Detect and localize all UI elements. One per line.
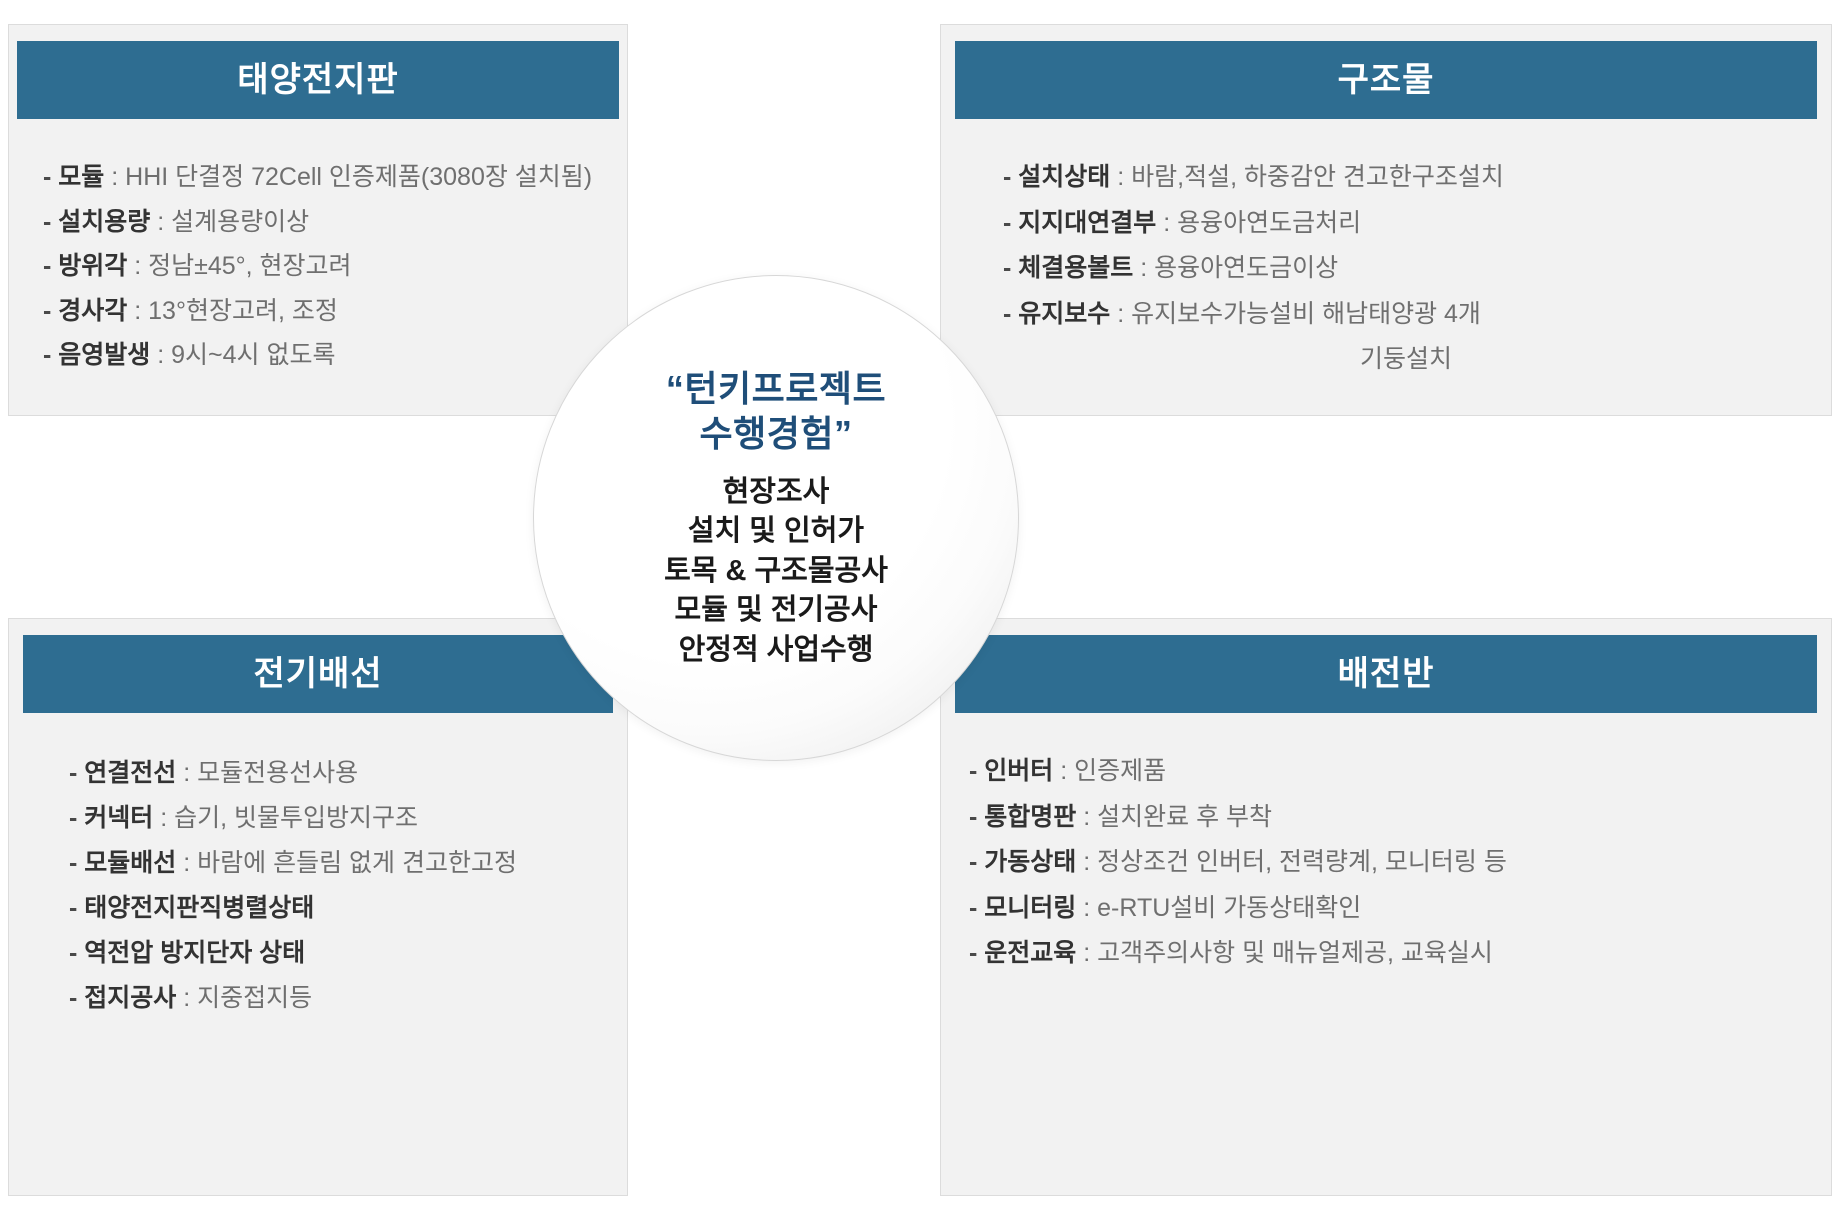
bullet-dash: - xyxy=(43,297,51,325)
center-circle-title: “턴키프로젝트 수행경험” xyxy=(666,366,886,457)
list-item: - 가동상태 : 정상조건 인버터, 전력량계, 모니터링 등 xyxy=(969,840,1809,886)
bullet-dash: - xyxy=(969,757,977,785)
list-item: - 태양전지판직병렬상태 xyxy=(69,886,605,931)
bullet-term: 모듈배선 xyxy=(84,849,176,877)
bullet-dash: - xyxy=(69,849,77,877)
list-item: - 모듈 : HHI 단결정 72Cell 인증제품(3080장 설치됨) xyxy=(43,155,605,200)
bullet-term: 운전교육 xyxy=(984,939,1076,967)
list-item: - 설치용량 : 설계용량이상 xyxy=(43,200,605,245)
bullet-dash: - xyxy=(969,848,977,876)
panel-wiring: 전기배선 - 연결전선 : 모듈전용선사용 - 커넥터 : 습기, 빗물투입방지… xyxy=(8,618,628,1196)
bullet-term: 유지보수 xyxy=(1018,300,1110,328)
panel-solar-panel: 태양전지판 - 모듈 : HHI 단결정 72Cell 인증제품(3080장 설… xyxy=(8,24,628,416)
bullet-sep: : xyxy=(1076,939,1097,967)
bullet-desc: 설계용량이상 xyxy=(171,208,309,236)
bullet-dash: - xyxy=(43,163,51,191)
bullet-dash: - xyxy=(69,984,77,1012)
bullet-sep: : xyxy=(150,208,171,236)
bullet-term: 태양전지판직병렬상태 xyxy=(84,894,314,922)
list-item: - 통합명판 : 설치완료 후 부착 xyxy=(969,795,1809,841)
bullet-sep: : xyxy=(150,341,171,369)
list-item: - 운전교육 : 고객주의사항 및 매뉴얼제공, 교육실시 xyxy=(969,931,1809,977)
bullet-sep: : xyxy=(176,984,197,1012)
list-item: - 접지공사 : 지중접지등 xyxy=(69,976,605,1021)
bullet-desc: 습기, 빗물투입방지구조 xyxy=(174,804,418,832)
bullet-desc: 고객주의사항 및 매뉴얼제공, 교육실시 xyxy=(1097,939,1493,967)
panel-body-switchboard: - 인버터 : 인증제품 - 통합명판 : 설치완료 후 부착 - 가동상태 :… xyxy=(941,713,1831,987)
bullet-dash: - xyxy=(1003,209,1011,237)
bullet-desc: e-RTU설비 가동상태확인 xyxy=(1097,894,1361,922)
list-item: - 모듈배선 : 바람에 흔들림 없게 견고한고정 xyxy=(69,841,605,886)
bullet-term: 가동상태 xyxy=(984,848,1076,876)
list-item: - 지지대연결부 : 용융아연도금처리 xyxy=(1003,201,1809,247)
list-item: - 음영발생 : 9시~4시 없도록 xyxy=(43,333,605,378)
bullet-sep: : xyxy=(104,163,125,191)
bullet-desc: 13°현장고려, 조정 xyxy=(148,297,338,325)
panel-structure: 구조물 - 설치상태 : 바람,적설, 하중감안 견고한구조설치 - 지지대연결… xyxy=(940,24,1832,416)
bullet-term: 방위각 xyxy=(58,252,127,280)
bullet-dash: - xyxy=(1003,300,1011,328)
bullet-term: 인버터 xyxy=(984,757,1053,785)
bullet-term: 연결전선 xyxy=(84,759,176,787)
list-item: - 역전압 방지단자 상태 xyxy=(69,931,605,976)
bullet-desc: HHI 단결정 72Cell 인증제품(3080장 설치됨) xyxy=(125,163,592,191)
list-item: - 모니터링 : e-RTU설비 가동상태확인 xyxy=(969,886,1809,932)
bullet-term: 모듈 xyxy=(58,163,104,191)
bullet-dash: - xyxy=(1003,254,1011,282)
list-item: - 인버터 : 인증제품 xyxy=(969,749,1809,795)
panel-title-wiring: 전기배선 xyxy=(23,635,613,713)
bullet-sep: : xyxy=(127,297,148,325)
bullet-dash: - xyxy=(1003,163,1011,191)
bullet-dash: - xyxy=(69,804,77,832)
list-item: - 설치상태 : 바람,적설, 하중감안 견고한구조설치 xyxy=(1003,155,1809,201)
list-item: - 방위각 : 정남±45°, 현장고려 xyxy=(43,244,605,289)
bullet-term: 커넥터 xyxy=(84,804,153,832)
list-item: - 커넥터 : 습기, 빗물투입방지구조 xyxy=(69,796,605,841)
bullet-desc: 정남±45°, 현장고려 xyxy=(148,252,351,280)
bullet-term: 모니터링 xyxy=(984,894,1076,922)
panel-switchboard: 배전반 - 인버터 : 인증제품 - 통합명판 : 설치완료 후 부착 - 가동… xyxy=(940,618,1832,1196)
bullet-dash: - xyxy=(969,803,977,831)
bullet-sep: : xyxy=(1076,894,1097,922)
bullet-desc: 모듈전용선사용 xyxy=(197,759,358,787)
bullet-sep: : xyxy=(176,759,197,787)
panel-body-wiring: - 연결전선 : 모듈전용선사용 - 커넥터 : 습기, 빗물투입방지구조 - … xyxy=(9,713,627,1031)
center-circle-items: 현장조사 설치 및 인허가 토목 & 구조물공사 모듈 및 전기공사 안정적 사… xyxy=(664,473,888,670)
bullet-term: 지지대연결부 xyxy=(1018,209,1156,237)
bullet-desc: 인증제품 xyxy=(1074,757,1166,785)
bullet-desc: 설치완료 후 부착 xyxy=(1097,803,1272,831)
bullet-term: 음영발생 xyxy=(58,341,150,369)
bullet-desc: 지중접지등 xyxy=(197,984,312,1012)
bullet-desc: 바람에 흔들림 없게 견고한고정 xyxy=(197,849,517,877)
diagram-canvas: 태양전지판 - 모듈 : HHI 단결정 72Cell 인증제품(3080장 설… xyxy=(0,0,1840,1214)
list-item: - 유지보수 : 유지보수가능설비 해남태양광 4개 기둥설치 xyxy=(1003,292,1809,383)
bullet-desc: 용융아연도금이상 xyxy=(1154,254,1338,282)
bullet-dash: - xyxy=(969,939,977,967)
bullet-dash: - xyxy=(969,894,977,922)
bullet-sep: : xyxy=(176,849,197,877)
bullet-term: 설치상태 xyxy=(1018,163,1110,191)
list-item: - 체결용볼트 : 용융아연도금이상 xyxy=(1003,246,1809,292)
bullet-term: 접지공사 xyxy=(84,984,176,1012)
center-circle-turnkey: “턴키프로젝트 수행경험” 현장조사 설치 및 인허가 토목 & 구조물공사 모… xyxy=(533,275,1019,761)
bullet-term: 경사각 xyxy=(58,297,127,325)
list-item: - 경사각 : 13°현장고려, 조정 xyxy=(43,289,605,334)
bullet-dash: - xyxy=(43,208,51,236)
bullet-dash: - xyxy=(69,894,77,922)
bullet-term: 역전압 방지단자 상태 xyxy=(84,939,305,967)
bullet-sep: : xyxy=(1133,254,1154,282)
bullet-dash: - xyxy=(69,939,77,967)
bullet-sep: : xyxy=(1110,300,1131,328)
bullet-sep: : xyxy=(127,252,148,280)
panel-title-structure: 구조물 xyxy=(955,41,1817,119)
bullet-desc: 용융아연도금처리 xyxy=(1177,209,1361,237)
panel-body-structure: - 설치상태 : 바람,적설, 하중감안 견고한구조설치 - 지지대연결부 : … xyxy=(941,119,1831,393)
bullet-sep: : xyxy=(1076,848,1097,876)
bullet-sep: : xyxy=(1156,209,1177,237)
bullet-continuation: 기둥설치 xyxy=(1003,337,1809,383)
bullet-sep: : xyxy=(1110,163,1131,191)
bullet-sep: : xyxy=(153,804,174,832)
bullet-desc: 유지보수가능설비 해남태양광 4개 xyxy=(1131,300,1481,328)
panel-title-solar-panel: 태양전지판 xyxy=(17,41,619,119)
bullet-desc: 9시~4시 없도록 xyxy=(171,341,335,369)
bullet-desc: 바람,적설, 하중감안 견고한구조설치 xyxy=(1131,163,1504,191)
bullet-dash: - xyxy=(43,252,51,280)
bullet-term: 통합명판 xyxy=(984,803,1076,831)
bullet-sep: : xyxy=(1076,803,1097,831)
bullet-sep: : xyxy=(1053,757,1074,785)
panel-title-switchboard: 배전반 xyxy=(955,635,1817,713)
panel-body-solar-panel: - 모듈 : HHI 단결정 72Cell 인증제품(3080장 설치됨) - … xyxy=(9,119,627,388)
bullet-desc: 정상조건 인버터, 전력량계, 모니터링 등 xyxy=(1097,848,1507,876)
bullet-term: 설치용량 xyxy=(58,208,150,236)
bullet-dash: - xyxy=(43,341,51,369)
bullet-term: 체결용볼트 xyxy=(1018,254,1133,282)
bullet-dash: - xyxy=(69,759,77,787)
list-item: - 연결전선 : 모듈전용선사용 xyxy=(69,751,605,796)
